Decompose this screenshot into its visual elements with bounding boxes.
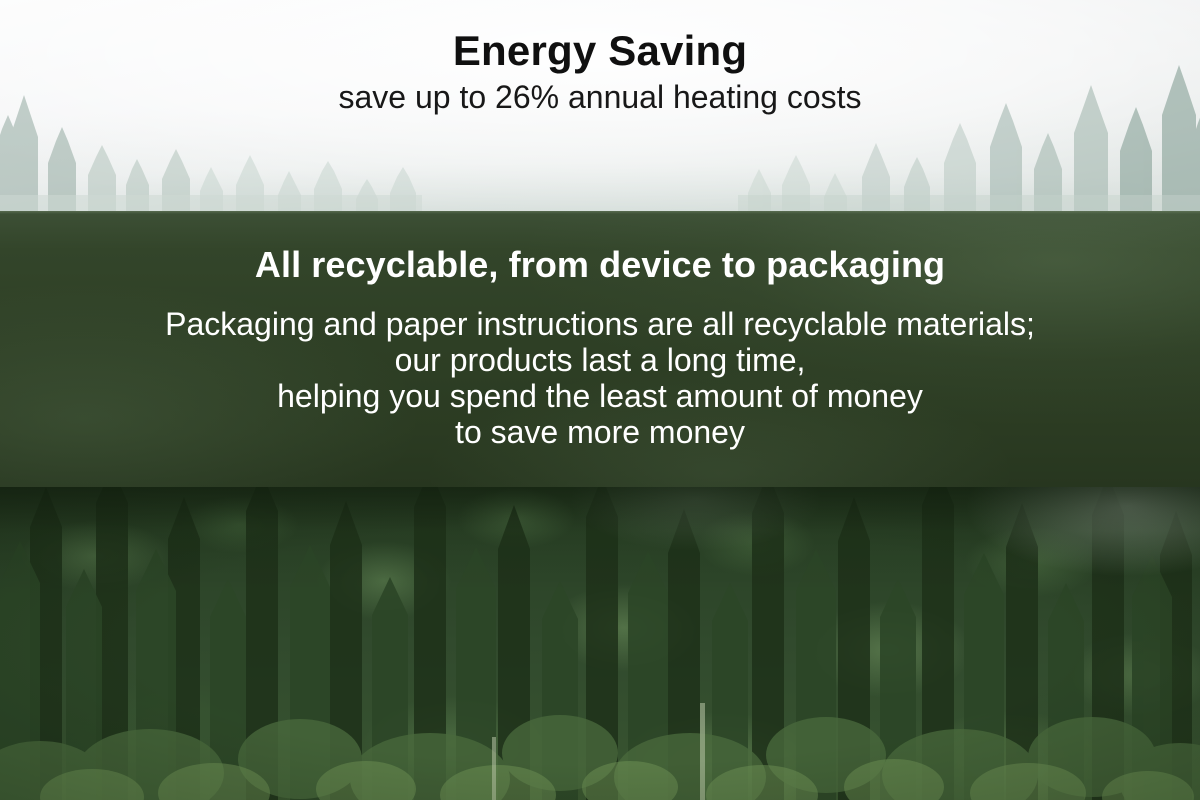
top-misty-forest-section: Energy Saving save up to 26% annual heat… xyxy=(0,0,1200,211)
canopy-vignette xyxy=(0,487,1200,800)
bottom-forest-photo-section xyxy=(0,487,1200,800)
band-body-line-3: helping you spend the least amount of mo… xyxy=(0,379,1200,415)
green-overlay-band: All recyclable, from device to packaging… xyxy=(0,211,1200,487)
top-text-block: Energy Saving save up to 26% annual heat… xyxy=(0,0,1200,116)
band-text-block: All recyclable, from device to packaging… xyxy=(0,211,1200,451)
band-heading: All recyclable, from device to packaging xyxy=(0,211,1200,285)
page-subtitle: save up to 26% annual heating costs xyxy=(0,73,1200,116)
energy-saving-banner: Energy Saving save up to 26% annual heat… xyxy=(0,0,1200,800)
band-body-line-2: our products last a long time, xyxy=(0,343,1200,379)
band-body-line-1: Packaging and paper instructions are all… xyxy=(0,307,1200,343)
band-body-line-4: to save more money xyxy=(0,415,1200,451)
band-body: Packaging and paper instructions are all… xyxy=(0,285,1200,450)
page-title: Energy Saving xyxy=(0,0,1200,73)
